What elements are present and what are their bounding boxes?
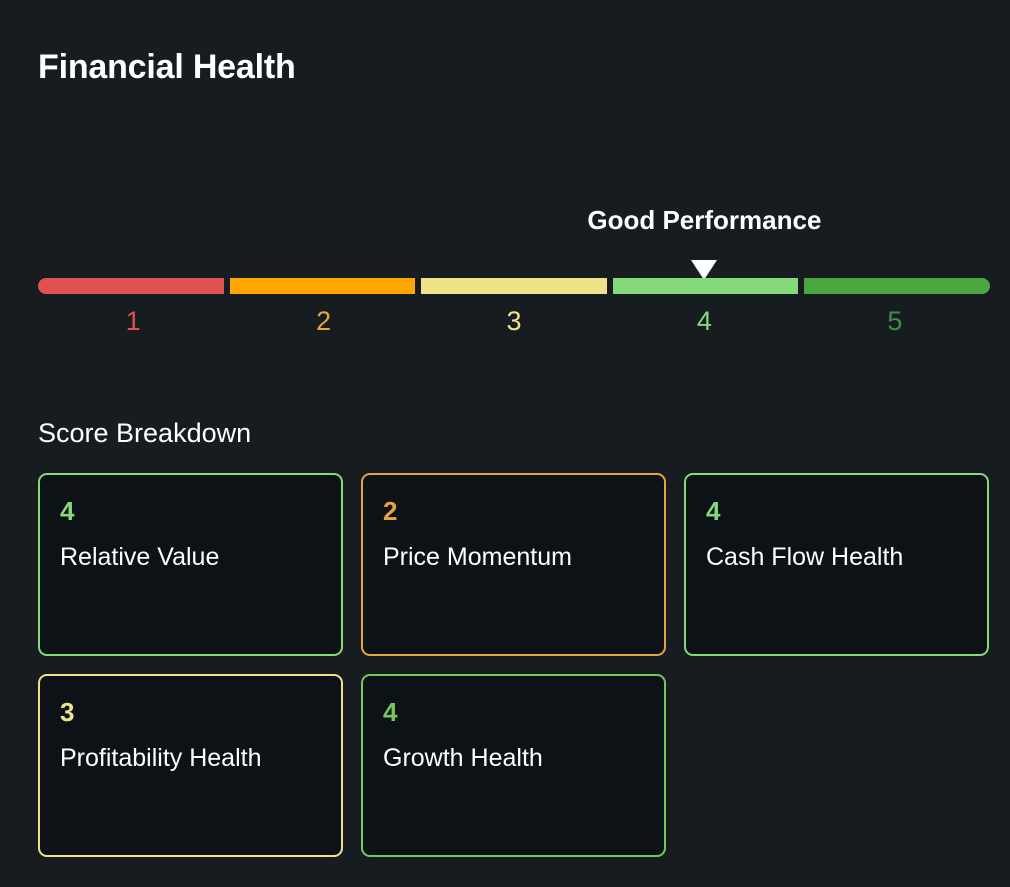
gauge-segment-4[interactable] bbox=[613, 278, 799, 294]
gauge-tick-labels: 12345 bbox=[38, 306, 990, 337]
score-card-value: 4 bbox=[60, 497, 321, 526]
score-card-label: Relative Value bbox=[60, 542, 270, 573]
score-card[interactable]: 4Cash Flow Health bbox=[684, 473, 989, 656]
gauge-segment-5[interactable] bbox=[804, 278, 990, 294]
page-title: Financial Health bbox=[38, 48, 296, 87]
score-card-value: 3 bbox=[60, 698, 321, 727]
score-card[interactable]: 4Growth Health bbox=[361, 674, 666, 857]
score-card-label: Cash Flow Health bbox=[706, 542, 916, 573]
score-card-grid: 4Relative Value2Price Momentum4Cash Flow… bbox=[38, 473, 991, 857]
score-card-label: Growth Health bbox=[383, 743, 593, 774]
gauge-segment-2[interactable] bbox=[230, 278, 416, 294]
score-card-value: 4 bbox=[706, 497, 967, 526]
gauge-tick-1: 1 bbox=[38, 306, 228, 337]
score-card[interactable]: 2Price Momentum bbox=[361, 473, 666, 656]
gauge-tick-4: 4 bbox=[609, 306, 799, 337]
gauge-tick-5: 5 bbox=[800, 306, 990, 337]
gauge-tick-3: 3 bbox=[419, 306, 609, 337]
score-card-label: Profitability Health bbox=[60, 743, 270, 774]
score-breakdown-heading: Score Breakdown bbox=[38, 418, 251, 449]
gauge-segment-1[interactable] bbox=[38, 278, 224, 294]
score-card[interactable]: 3Profitability Health bbox=[38, 674, 343, 857]
score-card[interactable]: 4Relative Value bbox=[38, 473, 343, 656]
triangle-down-marker-icon bbox=[691, 260, 717, 280]
score-card-value: 4 bbox=[383, 698, 644, 727]
gauge-status-label: Good Performance bbox=[544, 205, 864, 236]
gauge-tick-2: 2 bbox=[228, 306, 418, 337]
score-card-value: 2 bbox=[383, 497, 644, 526]
score-card-label: Price Momentum bbox=[383, 542, 593, 573]
financial-health-panel: Financial Health Good Performance 12345 … bbox=[0, 0, 1010, 887]
gauge-segment-3[interactable] bbox=[421, 278, 607, 294]
gauge-track[interactable] bbox=[38, 278, 990, 294]
